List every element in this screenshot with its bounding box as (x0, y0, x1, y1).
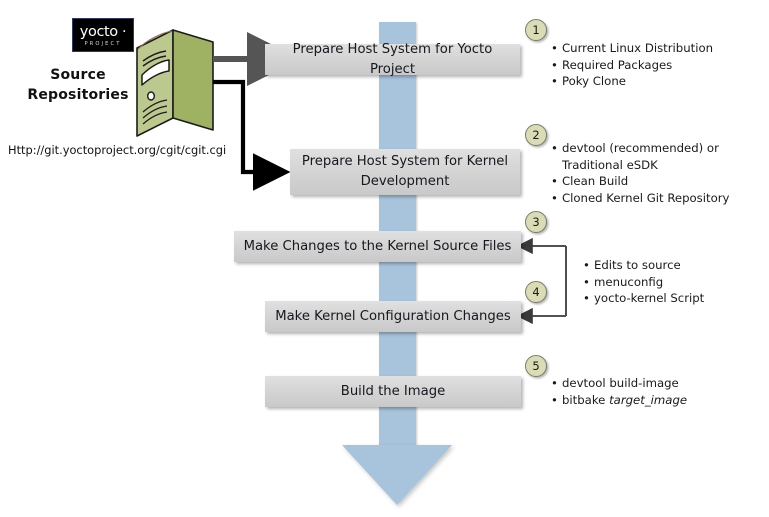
step-1-box[interactable]: Prepare Host System for Yocto Project (265, 44, 520, 75)
step-number-4: 4 (525, 281, 547, 303)
bullet-item: menuconfig (582, 274, 762, 291)
step-3-box[interactable]: Make Changes to the Kernel Source Files (234, 231, 521, 262)
step-number-1: 1 (525, 19, 547, 41)
bullet-item: Required Packages (550, 57, 765, 74)
step-2-bullets: devtool (recommended) or Traditional eSD… (550, 140, 765, 206)
diagram-canvas: yocto · PROJECT Source Repositories Http… (0, 0, 769, 517)
bullet-item: devtool build-image (550, 375, 750, 392)
step-number-2: 2 (525, 124, 547, 146)
step-5-box[interactable]: Build the Image (265, 376, 521, 407)
step-2-box[interactable]: Prepare Host System for Kernel Developme… (290, 149, 520, 195)
arrow-server-to-step2 (213, 82, 257, 172)
bullet-item: yocto-kernel Script (582, 290, 762, 307)
step-1-bullets: Current Linux Distribution Required Pack… (550, 40, 765, 90)
bullet-item: Poky Clone (550, 73, 765, 90)
bullet-item: Edits to source (582, 257, 762, 274)
step-number-3: 3 (525, 211, 547, 233)
step-5-bullets: devtool build-image bitbake target_image (550, 375, 750, 408)
bullet-item: devtool (recommended) or Traditional eSD… (550, 140, 765, 173)
bullet-item-bitbake: bitbake target_image (550, 392, 750, 409)
bitbake-command: bitbake (562, 393, 609, 407)
step-number-5: 5 (525, 355, 547, 377)
bullet-item: Current Linux Distribution (550, 40, 765, 57)
bitbake-target-arg: target_image (609, 393, 687, 407)
bullet-item: Cloned Kernel Git Repository (550, 190, 765, 207)
step-4-box[interactable]: Make Kernel Configuration Changes (265, 301, 521, 332)
bullet-item: Clean Build (550, 173, 765, 190)
step-3-4-bullets: Edits to source menuconfig yocto-kernel … (582, 257, 762, 307)
